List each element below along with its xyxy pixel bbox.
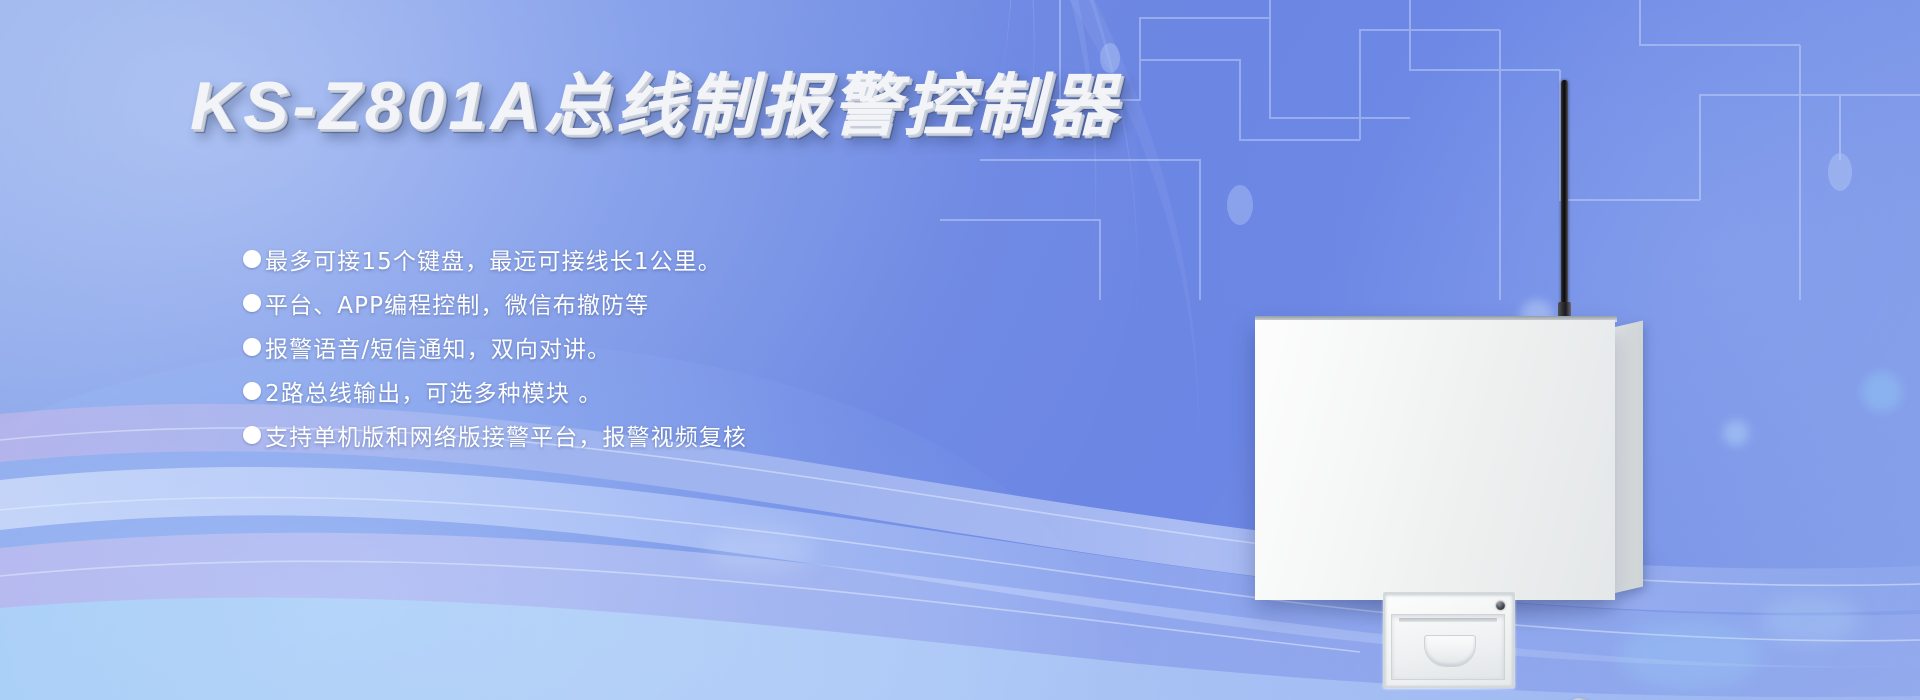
list-item: 最多可接15个键盘，最远可接线长1公里。 [243,237,1063,281]
page-title: KS-Z801A总线制报警控制器 [190,72,1119,140]
feature-text: 2路总线输出，可选多种模块 。 [265,374,602,408]
list-item: 平台、APP编程控制，微信布撤防等 [243,281,1063,325]
filled-circle-bullet-icon [243,426,261,444]
enclosure-side-face [1615,321,1643,593]
product-image [1255,80,1675,640]
recessed-keypad-window [1383,592,1515,688]
list-item: 2路总线输出，可选多种模块 。 [243,369,1063,413]
filled-circle-bullet-icon [243,294,261,312]
keypad-cover [1391,614,1505,680]
cover-slot [1399,618,1497,622]
indicator-led-icon [1496,601,1505,610]
feature-text: 支持单机版和网络版接警平台，报警视频复核 [265,418,747,452]
cover-pull-tab [1424,635,1476,667]
feature-text: 平台、APP编程控制，微信布撤防等 [265,286,649,320]
filled-circle-bullet-icon [243,250,261,268]
feature-text: 报警语音/短信通知，双向对讲。 [265,330,611,364]
feature-text: 最多可接15个键盘，最远可接线长1公里。 [265,242,722,276]
light-dot-2 [1862,372,1902,412]
list-item: 支持单机版和网络版接警平台，报警视频复核 [243,413,1063,457]
light-dot-3 [1723,420,1749,446]
list-item: 报警语音/短信通知，双向对讲。 [243,325,1063,369]
enclosure-front-face [1255,320,1615,600]
feature-list: 最多可接15个键盘，最远可接线长1公里。 平台、APP编程控制，微信布撤防等 报… [243,237,1063,457]
filled-circle-bullet-icon [243,382,261,400]
filled-circle-bullet-icon [243,338,261,356]
product-banner: KS-Z801A总线制报警控制器 最多可接15个键盘，最远可接线长1公里。 平台… [0,0,1920,700]
antenna-icon [1561,80,1568,310]
